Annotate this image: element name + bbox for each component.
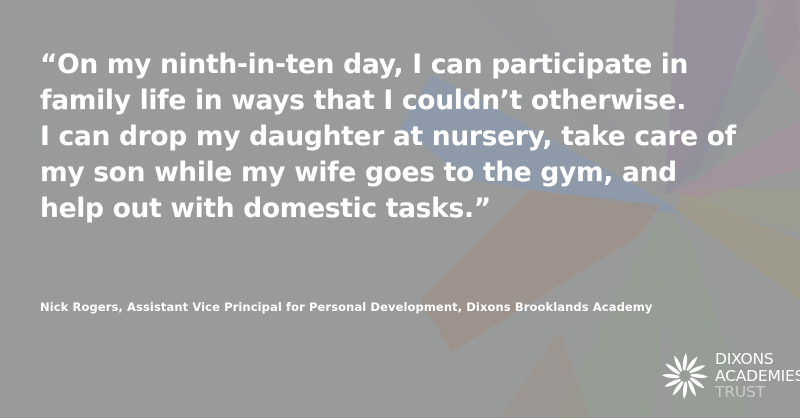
logo-line-trust: TRUST [715, 384, 800, 401]
quote-line: I can drop my daughter at nursery, take … [40, 119, 700, 155]
dixons-pinwheel-mark-icon [662, 353, 708, 399]
dixons-academies-trust-logo: DIXONS ACADEMIES TRUST [662, 348, 782, 404]
quote-line: help out with domestic tasks.” [40, 191, 700, 227]
logo-line-dixons: DIXONS [715, 351, 800, 368]
quote-slide: “On my ninth-in-ten day, I can participa… [0, 0, 800, 418]
quote-line: family life in ways that I couldn’t othe… [40, 83, 700, 119]
petal-sliver-pink [760, 0, 800, 96]
quote-line: my son while my wife goes to the gym, an… [40, 155, 700, 191]
petal-sliver-tan [500, 330, 590, 418]
quote-attribution: Nick Rogers, Assistant Vice Principal fo… [40, 300, 652, 314]
logo-wordmark: DIXONS ACADEMIES TRUST [715, 351, 800, 401]
logo-line-academies: ACADEMIES [715, 368, 800, 385]
petal-downleft-sage [558, 210, 672, 418]
quote-text: “On my ninth-in-ten day, I can participa… [40, 47, 700, 227]
quote-line: “On my ninth-in-ten day, I can participa… [40, 47, 700, 83]
